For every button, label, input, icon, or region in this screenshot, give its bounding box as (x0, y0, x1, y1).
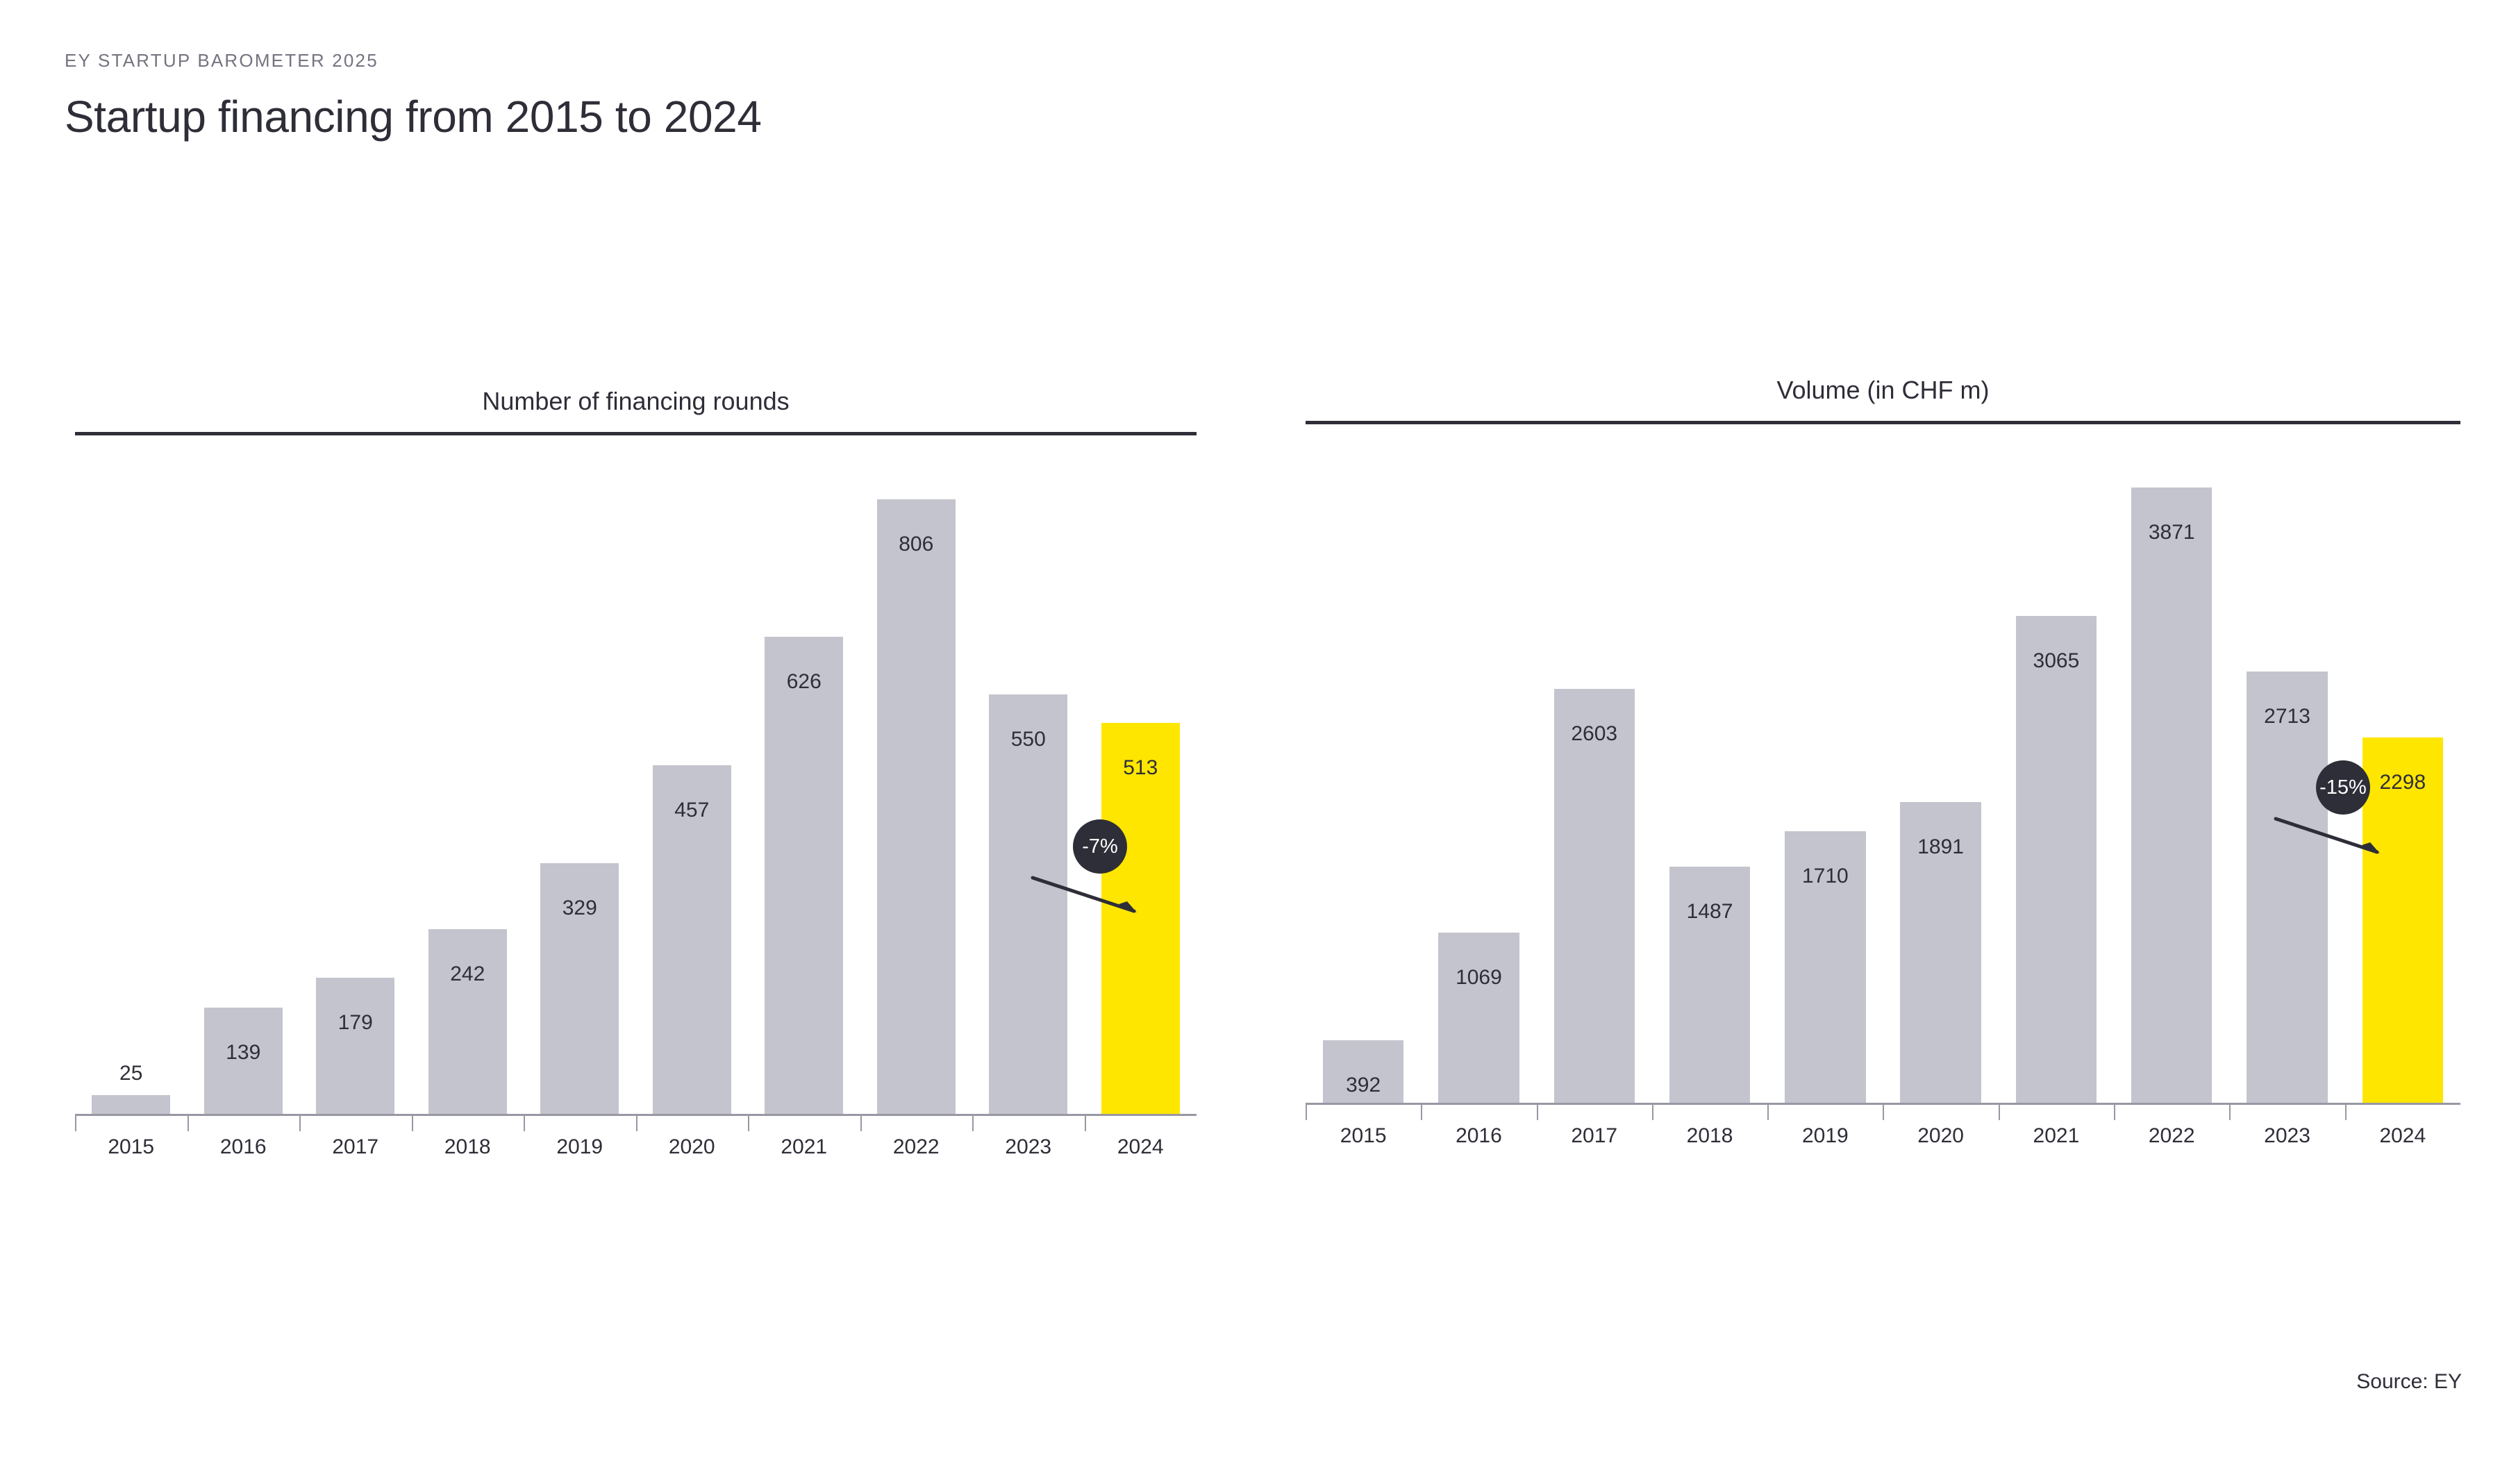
bar-slot: 1487 (1652, 424, 1767, 1103)
axis-tick (636, 1116, 749, 1133)
axis-label-year: 2015 (75, 1137, 187, 1158)
bar-slot: 1891 (1883, 424, 1998, 1103)
axis-tick (1421, 1105, 1536, 1122)
bar-slot: 1069 (1421, 424, 1536, 1103)
bar[interactable]: 242 (428, 929, 507, 1114)
axis-label-year: 2018 (412, 1137, 524, 1158)
axis-label-year: 2022 (2114, 1126, 2229, 1147)
bar[interactable]: 1891 (1900, 802, 1981, 1103)
axis-label-year: 2015 (1306, 1126, 1421, 1147)
axis-tick (299, 1116, 412, 1133)
bar-value-label: 1069 (1456, 967, 1502, 988)
axis-label-year: 2016 (187, 1137, 300, 1158)
bar-slot: 550 (972, 435, 1085, 1114)
bar[interactable]: 550 (989, 694, 1067, 1114)
bar[interactable]: 1710 (1785, 831, 1865, 1103)
axis-label-year: 2024 (1085, 1137, 1197, 1158)
bar-value-label: 139 (226, 1042, 260, 1063)
axis-label-year: 2019 (524, 1137, 636, 1158)
bar-slot: 139 (187, 435, 300, 1114)
axis-tick (1085, 1116, 1197, 1133)
bar[interactable]: 626 (765, 637, 843, 1114)
bar-slot: 392 (1306, 424, 1421, 1103)
axis-label-year: 2017 (1537, 1126, 1652, 1147)
bar-slot: 457 (636, 435, 749, 1114)
bar-slot: 242 (412, 435, 524, 1114)
bar-value-label: 626 (787, 672, 822, 692)
bar[interactable]: 2603 (1554, 689, 1635, 1103)
bar-value-label: 2603 (1571, 724, 1617, 744)
bar[interactable]: 1487 (1669, 867, 1750, 1103)
axis-ticks-volume (1306, 1105, 2460, 1122)
axis-label-year: 2019 (1767, 1126, 1883, 1147)
axis-labels-rounds: 2015201620172018201920202021202220232024 (75, 1137, 1197, 1158)
bar[interactable]: 139 (204, 1008, 283, 1114)
axis-label-year: 2021 (1999, 1126, 2114, 1147)
bar-slot: 3065 (1999, 424, 2114, 1103)
bar-value-label: 1487 (1687, 901, 1733, 922)
bar[interactable]: 513 (1101, 723, 1180, 1114)
axis-tick (2229, 1105, 2344, 1122)
bar-value-label: 806 (899, 534, 933, 555)
chart-title-rounds: Number of financing rounds (75, 389, 1197, 414)
bar[interactable]: 3065 (2016, 616, 2097, 1103)
axis-tick (748, 1116, 860, 1133)
axis-tick (1999, 1105, 2114, 1122)
bar-slot: 1710 (1767, 424, 1883, 1103)
bar-slot: 626 (748, 435, 860, 1114)
axis-tick (1537, 1105, 1652, 1122)
bar[interactable]: 457 (653, 765, 731, 1114)
bar-value-label: 3065 (2033, 651, 2080, 672)
bar-value-label: 242 (450, 964, 485, 985)
bar-slot: 2298 (2345, 424, 2460, 1103)
bar-group-rounds: 25139179242329457626806550513 (75, 435, 1197, 1114)
bar-value-label: 550 (1011, 729, 1046, 750)
bar[interactable]: 806 (877, 499, 956, 1114)
bar-value-label: 2713 (2264, 706, 2310, 727)
axis-ticks-rounds (75, 1116, 1197, 1133)
eyebrow-label: EY STARTUP BAROMETER 2025 (65, 51, 762, 69)
axis-tick (1652, 1105, 1767, 1122)
bar-value-label: 179 (338, 1012, 373, 1033)
bar[interactable]: 25 (92, 1095, 170, 1114)
axis-tick (1306, 1105, 1421, 1122)
axis-tick (1767, 1105, 1883, 1122)
axis-label-year: 2017 (299, 1137, 412, 1158)
bar-slot: 2603 (1537, 424, 1652, 1103)
axis-label-year: 2020 (1883, 1126, 1998, 1147)
bar-slot: 329 (524, 435, 636, 1114)
bar-value-label: 513 (1123, 758, 1158, 778)
bar-value-label: 457 (674, 800, 709, 821)
axis-tick (75, 1116, 187, 1133)
axis-labels-volume: 2015201620172018201920202021202220232024 (1306, 1126, 2460, 1147)
bar-value-label: 1710 (1802, 866, 1849, 887)
page-header: EY STARTUP BAROMETER 2025 Startup financ… (65, 51, 762, 141)
chart-panel-rounds: Number of financing rounds 2513917924232… (75, 389, 1197, 1116)
axis-tick (187, 1116, 300, 1133)
axis-tick (1883, 1105, 1998, 1122)
bar-group-volume: 392106926031487171018913065387127132298 (1306, 424, 2460, 1103)
bar[interactable]: 3871 (2131, 487, 2212, 1103)
axis-label-year: 2016 (1421, 1126, 1536, 1147)
bar-value-label: 1891 (1917, 837, 1964, 858)
plot-area-rounds: 25139179242329457626806550513 2015201620… (75, 435, 1197, 1116)
plot-area-volume: 392106926031487171018913065387127132298 … (1306, 424, 2460, 1105)
bar-slot: 3871 (2114, 424, 2229, 1103)
bar[interactable]: 2713 (2247, 672, 2327, 1103)
chart-title-volume: Volume (in CHF m) (1306, 378, 2460, 403)
bar[interactable]: 179 (316, 978, 394, 1114)
axis-tick (524, 1116, 636, 1133)
axis-label-year: 2020 (636, 1137, 749, 1158)
axis-tick (2114, 1105, 2229, 1122)
bar-value-label: 329 (562, 898, 597, 919)
bar[interactable]: 1069 (1438, 933, 1519, 1103)
axis-label-year: 2023 (2229, 1126, 2344, 1147)
axis-tick (412, 1116, 524, 1133)
bar-slot: 2713 (2229, 424, 2344, 1103)
bar[interactable]: 2298 (2362, 737, 2443, 1103)
chart-panel-volume: Volume (in CHF m) 3921069260314871710189… (1306, 389, 2460, 1105)
page-title: Startup financing from 2015 to 2024 (65, 93, 762, 141)
bar-value-label: 25 (119, 1063, 142, 1084)
axis-label-year: 2022 (860, 1137, 973, 1158)
source-label: Source: EY (2356, 1372, 2462, 1392)
bar-slot: 806 (860, 435, 973, 1114)
bar-value-label: 2298 (2379, 772, 2426, 793)
axis-label-year: 2021 (748, 1137, 860, 1158)
axis-label-year: 2018 (1652, 1126, 1767, 1147)
bar-value-label: 3871 (2149, 522, 2195, 543)
axis-label-year: 2023 (972, 1137, 1085, 1158)
axis-tick (972, 1116, 1085, 1133)
bar[interactable]: 392 (1323, 1040, 1403, 1103)
bar-slot: 513 (1085, 435, 1197, 1114)
bar[interactable]: 329 (540, 863, 619, 1114)
axis-tick (2345, 1105, 2460, 1122)
axis-tick (860, 1116, 973, 1133)
bar-slot: 25 (75, 435, 187, 1114)
bar-slot: 179 (299, 435, 412, 1114)
axis-label-year: 2024 (2345, 1126, 2460, 1147)
bar-value-label: 392 (1346, 1075, 1381, 1096)
